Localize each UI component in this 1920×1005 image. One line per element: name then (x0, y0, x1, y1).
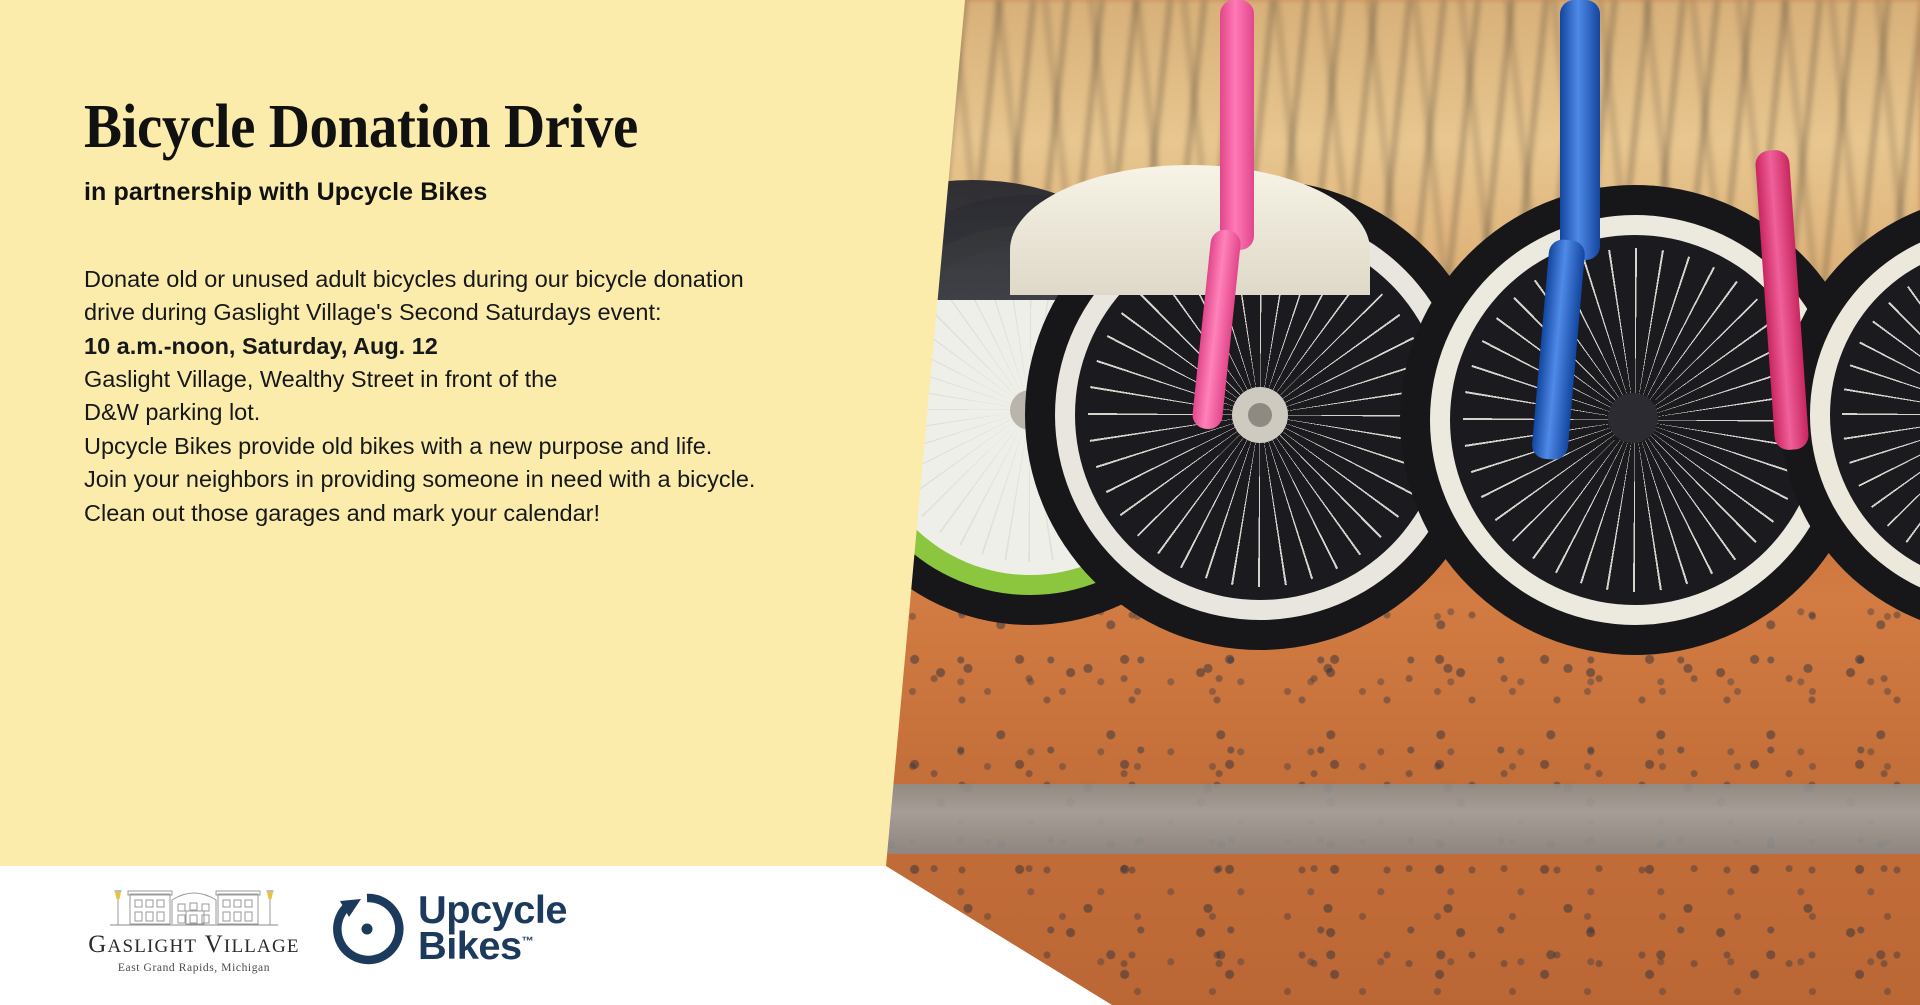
upcycle-bikes-logo: Upcycle Bikes™ (330, 892, 564, 966)
subtitle: in partnership with Upcycle Bikes (84, 178, 844, 207)
gv-aslight: ASLIGHT (108, 936, 198, 957)
bikes-text: Bikes (418, 925, 522, 968)
curb-strip (860, 784, 1920, 854)
about-line-2: Join your neighbors in providing someone… (84, 463, 844, 496)
upcycle-bikes-wordmark: Upcycle Bikes™ (418, 893, 564, 965)
call-to-action: Clean out those garages and mark your ca… (84, 497, 844, 530)
gaslight-village-tagline: East Grand Rapids, Michigan (78, 962, 310, 974)
upcycle-word: Upcycle (418, 893, 567, 929)
footer-logos: GASLIGHT VILLAGE East Grand Rapids, Mich… (0, 866, 1000, 1005)
gaslight-building-illustration (104, 884, 284, 930)
event-details: 10 a.m.-noon, Saturday, Aug. 12 Gaslight… (84, 330, 844, 430)
event-datetime: 10 a.m.-noon, Saturday, Aug. 12 (84, 330, 844, 363)
gaslight-village-wordmark: GASLIGHT VILLAGE (78, 932, 310, 957)
poster-canvas: Bicycle Donation Drive in partnership wi… (0, 0, 1920, 1005)
intro-line-1: Donate old or unused adult bicycles duri… (84, 263, 844, 296)
trademark-symbol: ™ (522, 934, 534, 948)
intro-line-2: drive during Gaslight Village's Second S… (84, 296, 844, 329)
intro-paragraph: Donate old or unused adult bicycles duri… (84, 263, 844, 330)
gaslight-village-logo: GASLIGHT VILLAGE East Grand Rapids, Mich… (78, 884, 310, 974)
recycle-arrow-icon (330, 892, 404, 966)
body-copy: Donate old or unused adult bicycles duri… (84, 263, 844, 530)
event-location-line-1: Gaslight Village, Wealthy Street in fron… (84, 363, 844, 396)
gv-v: V (205, 931, 224, 958)
event-location-line-2: D&W parking lot. (84, 396, 844, 429)
bikes-word: Bikes™ (418, 929, 567, 965)
gv-g: G (88, 931, 107, 958)
about-paragraph: Upcycle Bikes provide old bikes with a n… (84, 430, 844, 497)
page-title: Bicycle Donation Drive (84, 96, 783, 158)
about-line-1: Upcycle Bikes provide old bikes with a n… (84, 430, 844, 463)
bicycle-photo (860, 0, 1920, 1005)
text-content: Bicycle Donation Drive in partnership wi… (84, 0, 844, 530)
gv-illage: ILLAGE (224, 936, 300, 957)
